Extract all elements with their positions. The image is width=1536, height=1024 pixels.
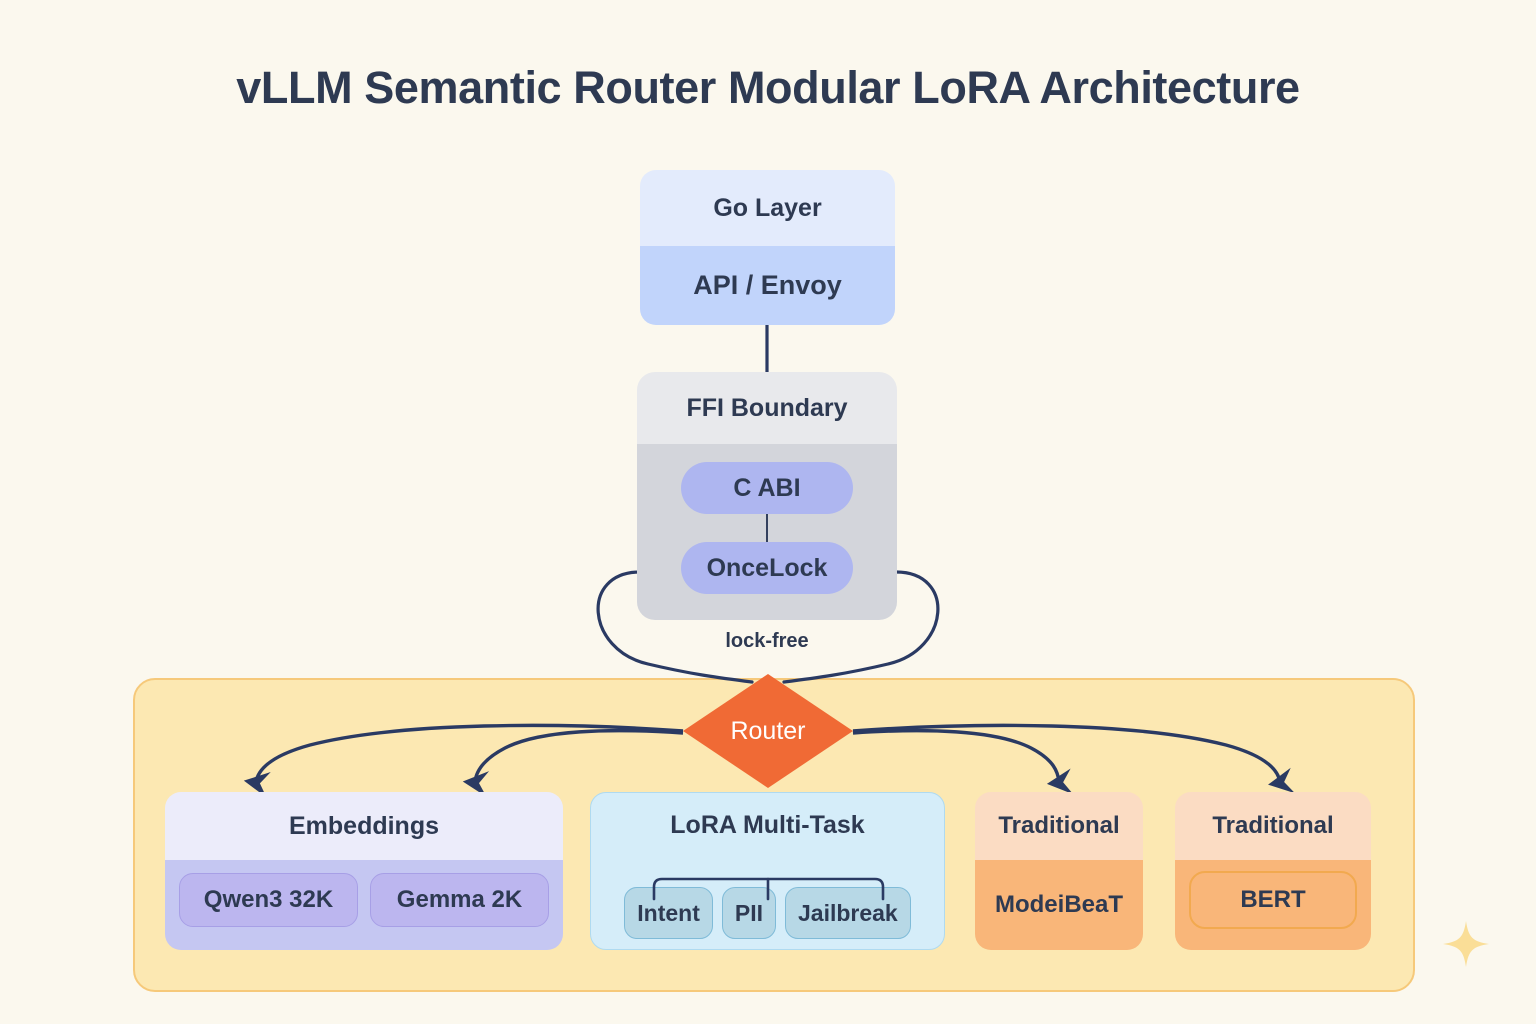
chip-pii[interactable]: PII (722, 887, 776, 939)
node-go-layer[interactable]: Go Layer API / Envoy (640, 170, 895, 325)
lora-header: LoRA Multi-Task (591, 793, 944, 857)
chip-qwen3-32k[interactable]: Qwen3 32K (179, 873, 358, 927)
node-ffi-boundary[interactable]: FFI Boundary C ABI OnceLock (637, 372, 897, 620)
chip-gemma-2k[interactable]: Gemma 2K (370, 873, 549, 927)
chip-jailbreak[interactable]: Jailbreak (785, 887, 911, 939)
traditional-2-body: BERT (1175, 860, 1371, 950)
lock-free-label: lock-free (681, 630, 853, 653)
node-traditional-bert[interactable]: Traditional BERT (1175, 792, 1371, 950)
traditional-1-header: Traditional (975, 792, 1143, 860)
router-label: Router (683, 674, 853, 788)
ffi-pill-c-abi[interactable]: C ABI (681, 462, 853, 514)
ffi-pill-oncelock[interactable]: OnceLock (681, 542, 853, 594)
node-lora-multi-task[interactable]: LoRA Multi-Task Intent PII Jailbreak (590, 792, 945, 950)
node-traditional-modelbeat[interactable]: Traditional ModeiBeaT (975, 792, 1143, 950)
go-layer-body: API / Envoy (640, 246, 895, 325)
chip-bert[interactable]: BERT (1189, 871, 1357, 929)
chip-intent[interactable]: Intent (624, 887, 713, 939)
ffi-body: C ABI OnceLock (637, 444, 897, 620)
node-router[interactable]: Router (683, 674, 853, 788)
page-title: vLLM Semantic Router Modular LoRA Archit… (0, 62, 1536, 114)
sparkle-icon (1440, 918, 1492, 970)
diagram-canvas: vLLM Semantic Router Modular LoRA Archit… (0, 0, 1536, 1024)
traditional-2-header: Traditional (1175, 792, 1371, 860)
embeddings-body: Qwen3 32K Gemma 2K (165, 860, 563, 950)
node-embeddings[interactable]: Embeddings Qwen3 32K Gemma 2K (165, 792, 563, 950)
lora-body: Intent PII Jailbreak (591, 857, 944, 949)
ffi-pill-connector (766, 514, 768, 542)
ffi-header: FFI Boundary (637, 372, 897, 444)
go-layer-header: Go Layer (640, 170, 895, 246)
embeddings-header: Embeddings (165, 792, 563, 860)
traditional-1-body: ModeiBeaT (975, 860, 1143, 950)
